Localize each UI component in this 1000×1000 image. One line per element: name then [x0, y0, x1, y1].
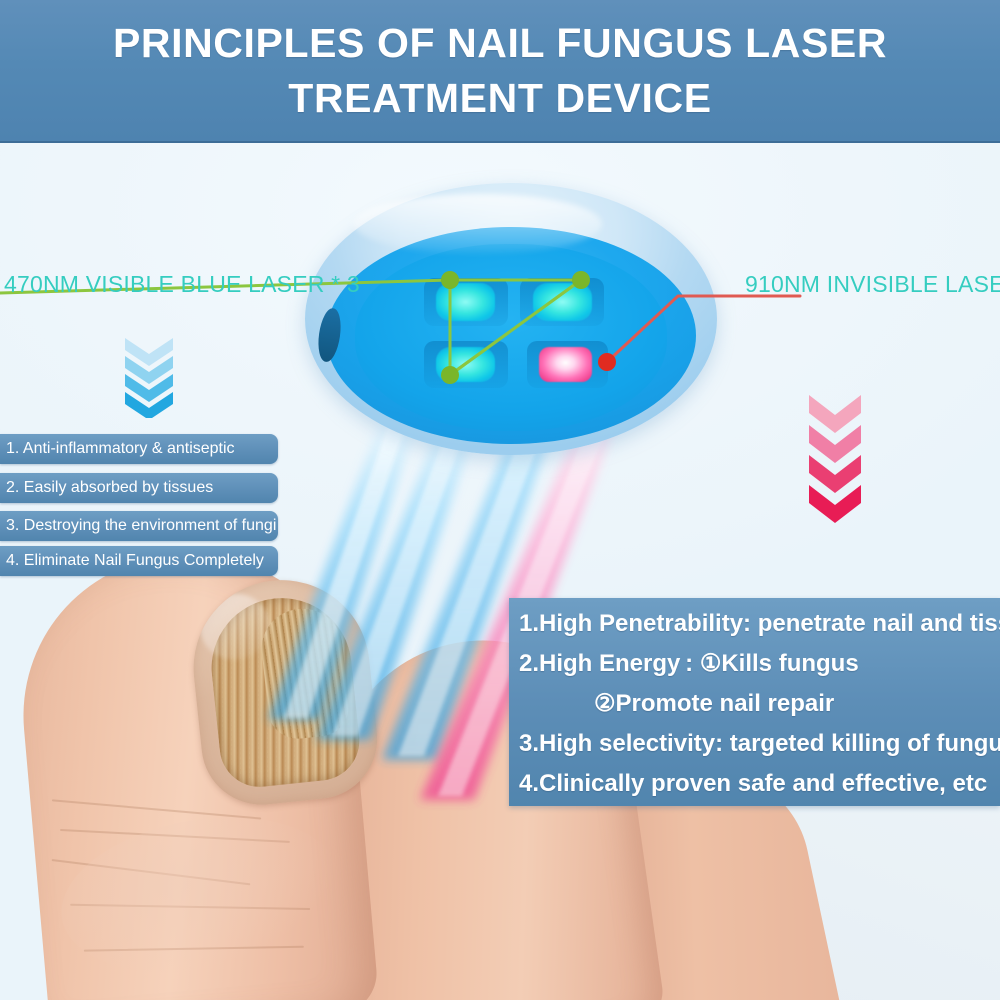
- feature-line-2: 2.High Energy : ①Kills fungus: [519, 644, 996, 684]
- feature-line-5: 4.Clinically proven safe and effective, …: [519, 764, 996, 804]
- benefit-item-4: 4. Eliminate Nail Fungus Completely: [0, 546, 278, 576]
- feature-panel: 1.High Penetrability: penetrate nail and…: [509, 598, 1000, 806]
- benefit-item-3-label: 3. Destroying the environment of fungi: [0, 517, 276, 535]
- callout-label-invisible-laser: 910NM INVISIBLE LASER: [745, 271, 1000, 298]
- chevron-down-icon: [809, 395, 861, 433]
- feature-line-4: 3.High selectivity: targeted killing of …: [519, 724, 996, 764]
- blue-chevron-arrows: [121, 336, 177, 418]
- benefit-item-1-label: 1. Anti-inflammatory & antiseptic: [0, 440, 235, 458]
- feature-line-1: 1.High Penetrability: penetrate nail and…: [519, 604, 996, 644]
- callout-label-blue-laser: 470NM VISIBLE BLUE LASER * 3: [4, 271, 360, 298]
- pink-chevron-arrows: [806, 393, 864, 533]
- feature-line-3: ②Promote nail repair: [519, 684, 996, 724]
- benefit-item-2-label: 2. Easily absorbed by tissues: [0, 479, 213, 497]
- benefit-item-1: 1. Anti-inflammatory & antiseptic: [0, 434, 278, 464]
- infographic-page: PRINCIPLES OF NAIL FUNGUS LASER TREATMEN…: [0, 0, 1000, 1000]
- benefit-item-4-label: 4. Eliminate Nail Fungus Completely: [0, 552, 264, 570]
- benefit-item-3: 3. Destroying the environment of fungi: [0, 511, 278, 541]
- benefit-item-2: 2. Easily absorbed by tissues: [0, 473, 278, 503]
